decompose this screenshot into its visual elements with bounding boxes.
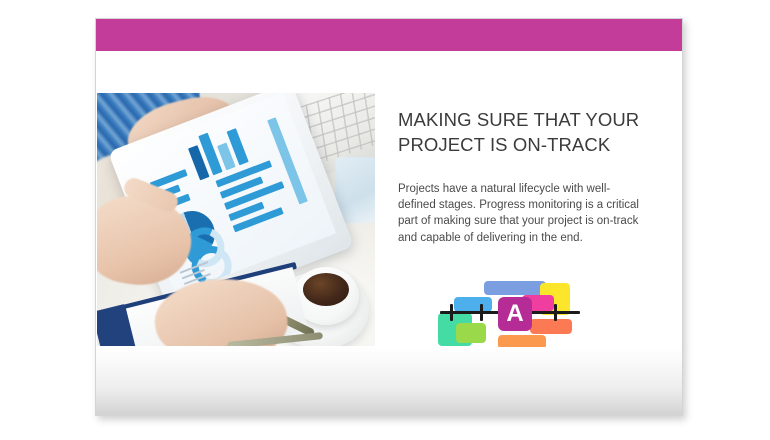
timeline-tick-4	[554, 304, 557, 321]
slide-body-text: Projects have a natural lifecycle with w…	[398, 181, 642, 246]
slide-footer-band	[96, 347, 682, 415]
slide-title: MAKING SURE THAT YOUR PROJECT IS ON-TRAC…	[398, 107, 650, 157]
tablet-analytics-photo	[97, 93, 375, 346]
bar-periwinkle	[484, 281, 546, 295]
slide-header-band	[96, 19, 682, 51]
photo-coffee-liquid	[303, 273, 349, 306]
timeline-tick-2	[480, 304, 483, 321]
bar-cyan	[454, 297, 492, 312]
timeline-center-badge: A	[498, 297, 532, 331]
screenshot-stage: MAKING SURE THAT YOUR PROJECT IS ON-TRAC…	[0, 0, 770, 440]
bar-orange-right	[530, 319, 572, 334]
presentation-slide: MAKING SURE THAT YOUR PROJECT IS ON-TRAC…	[95, 18, 683, 416]
timeline-tick-1	[450, 304, 453, 321]
project-timeline-graphic: A	[436, 271, 584, 353]
slide-text-column: MAKING SURE THAT YOUR PROJECT IS ON-TRAC…	[398, 107, 650, 246]
bar-lime	[456, 323, 486, 343]
